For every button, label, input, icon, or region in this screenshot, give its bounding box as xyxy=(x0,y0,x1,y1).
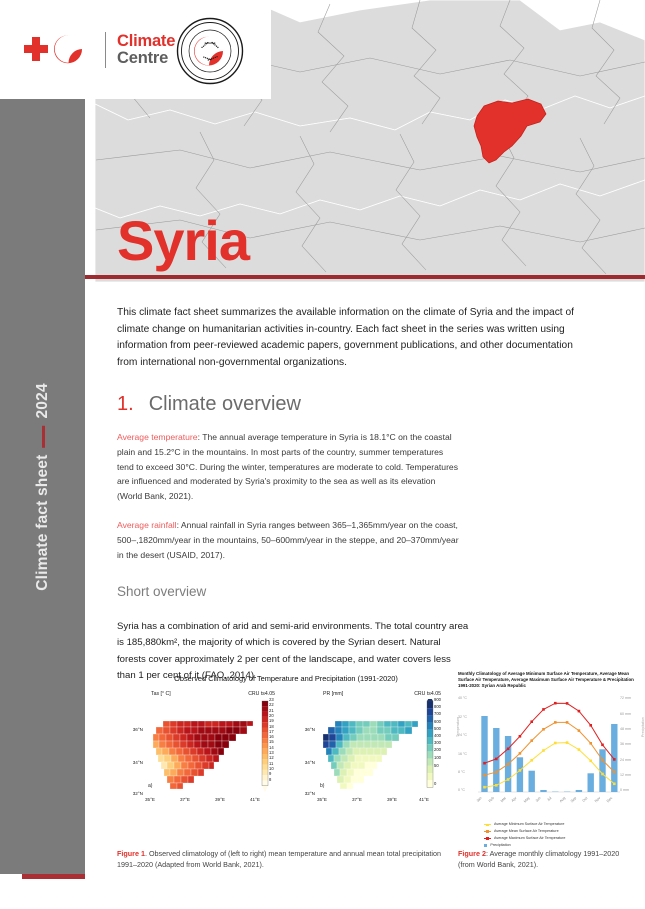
mean-temp-line xyxy=(485,723,615,776)
colorbar-tick: 23 xyxy=(269,697,274,702)
legend-label: Average Maximum Surface Air Temperature xyxy=(494,835,565,842)
sidebar-bottom-rule xyxy=(22,874,85,879)
colorbar-tick: 22 xyxy=(269,702,274,707)
paragraph-body: : The annual average temperature in Syri… xyxy=(117,432,458,501)
colorbar-tick: 500 xyxy=(434,726,441,731)
map-temperature: Tas [° C] CRU ts4.05 36°N 34°N 32°N 35°E… xyxy=(117,691,289,805)
colorbar-tick: 11 xyxy=(269,761,273,766)
chart-xtick: Sep xyxy=(570,796,577,803)
figure-2-caption-number: Figure 2 xyxy=(458,849,486,858)
chart-xtick: Dec xyxy=(606,796,613,803)
legend-item: Average Maximum Surface Air Temperature xyxy=(484,835,565,842)
chart-y2tick: 60 mm xyxy=(620,712,631,716)
logo-climate-text: Climate xyxy=(117,33,175,50)
paragraph-lead: Average temperature xyxy=(117,432,198,442)
legend-item: Average Mean Surface Air Temperature xyxy=(484,828,565,835)
chart-xtick: Oct xyxy=(582,796,589,803)
colorbar-tick: 900 xyxy=(434,697,441,702)
max-temp-line xyxy=(485,704,615,764)
legend-marker-precipitation xyxy=(484,844,487,847)
chart-xtick: Jul xyxy=(546,796,552,802)
sidebar-rule xyxy=(41,425,44,447)
colorbar-tick: 800 xyxy=(434,704,441,709)
colorbar-tick: 12 xyxy=(269,755,274,760)
figure-1-title: Observed Climatology of Temperature and … xyxy=(117,674,455,683)
figure-2: Monthly Climatology of Average Minimum S… xyxy=(458,671,645,811)
sidebar-label-main: Climate fact sheet xyxy=(34,454,52,590)
title-rule xyxy=(85,275,645,279)
colorbar-tick: 0 xyxy=(434,781,436,786)
legend-label: Average Mean Surface Air Temperature xyxy=(494,828,559,835)
map-precipitation: PR [mm] CRU ts4.05 36°N 34°N 32°N 35°E 3… xyxy=(289,691,455,805)
legend-marker-max-temp xyxy=(484,837,491,841)
colorbar-tick: 10 xyxy=(269,766,274,771)
colorbar-tick: 200 xyxy=(434,747,441,752)
chart-y2tick: 48 mm xyxy=(620,727,631,731)
colorbar-tick: 15 xyxy=(269,739,274,744)
paragraph-average-rainfall: Average rainfall: Annual rainfall in Syr… xyxy=(117,518,462,562)
logo-divider xyxy=(105,32,106,68)
figure-2-title: Monthly Climatology of Average Minimum S… xyxy=(458,671,642,688)
short-overview-heading: Short overview xyxy=(117,584,597,599)
chart-xtick: Jan xyxy=(476,796,483,803)
colorbar-tick: 8 xyxy=(269,777,271,782)
colorbar-tick: 13 xyxy=(269,750,274,755)
figure-1-caption-number: Figure 1 xyxy=(117,849,145,858)
chart-ylabel: Temperature xyxy=(456,717,460,737)
colorbar-tick: 19 xyxy=(269,718,274,723)
red-cross-red-crescent-emblem xyxy=(22,33,92,67)
chart-y2tick: 72 mm xyxy=(620,696,631,700)
chart-y2label: Precipitation xyxy=(641,718,645,738)
chart-xtick: Nov xyxy=(594,796,601,803)
colorbar-tick: 21 xyxy=(269,708,274,713)
chart-y2tick: 24 mm xyxy=(620,758,631,762)
paragraph-average-temperature: Average temperature: The annual average … xyxy=(117,430,462,504)
monthly-climatology-chart: 0 °C 8 °C 16 °C 24 °C 32 °C 40 °C Temper… xyxy=(458,693,645,811)
page-title: Syria xyxy=(117,214,249,267)
colorbar-tick: 14 xyxy=(269,745,274,750)
legend-label: Average Minimum Surface Air Temperature xyxy=(494,821,564,828)
section-number: 1. xyxy=(117,393,134,416)
red-crescent-seal: ●●●●●● ●●●●● ●●●●● ●●●●●● ●●●●● xyxy=(176,17,244,90)
temperature-lines xyxy=(485,704,615,788)
figure-1: Observed Climatology of Temperature and … xyxy=(117,674,455,805)
chart-y2tick: 12 mm xyxy=(620,773,631,777)
logo-centre-text: Centre xyxy=(117,50,175,67)
intro-paragraph: This climate fact sheet summarizes the a… xyxy=(117,305,589,371)
colorbar-tick: 16 xyxy=(269,734,274,739)
chart-xtick: Apr xyxy=(511,796,518,803)
figure-2-caption: Figure 2: Average monthly climatology 19… xyxy=(458,848,638,871)
colorbar-tick: 18 xyxy=(269,724,274,729)
colorbar-tick: 50 xyxy=(434,763,439,768)
left-sidebar: Climate fact sheet 2024 xyxy=(0,99,85,874)
colorbar-tick: 100 xyxy=(434,755,441,760)
colorbar-tick: 400 xyxy=(434,733,441,738)
sidebar-label-year: 2024 xyxy=(34,383,52,418)
chart-xtick: Mar xyxy=(499,796,506,803)
colorbar-tick: 9 xyxy=(269,771,271,776)
section-heading: 1. Climate overview xyxy=(117,393,597,416)
figure-1-caption: Figure 1. Observed climatology of (left … xyxy=(117,848,447,871)
chart-ytick: 8 °C xyxy=(458,770,465,774)
chart-y2tick: 36 mm xyxy=(620,742,631,746)
chart-xtick: Jun xyxy=(535,796,542,803)
legend-item: Average Minimum Surface Air Temperature xyxy=(484,821,565,828)
chart-xtick: May xyxy=(523,796,531,804)
chart-ytick: 40 °C xyxy=(458,696,467,700)
colorbar-tick: 17 xyxy=(269,729,274,734)
colorbar-tick: 600 xyxy=(434,719,441,724)
figure-1-maps: Tas [° C] CRU ts4.05 36°N 34°N 32°N 35°E… xyxy=(117,691,455,805)
chart-legend: Average Minimum Surface Air Temperature … xyxy=(484,821,565,848)
main-content: This climate fact sheet summarizes the a… xyxy=(117,305,597,684)
chart-plot-area xyxy=(478,696,620,796)
colorbar-tick: 20 xyxy=(269,713,274,718)
paragraph-lead: Average rainfall xyxy=(117,520,177,530)
section-title: Climate overview xyxy=(149,393,301,416)
colorbar-tick: 300 xyxy=(434,740,441,745)
sidebar-label: Climate fact sheet 2024 xyxy=(34,383,52,591)
chart-ytick: 16 °C xyxy=(458,752,467,756)
temperature-markers xyxy=(483,702,615,789)
chart-xtick: Aug xyxy=(558,796,565,803)
chart-y2tick: 0 mm xyxy=(620,788,629,792)
legend-marker-mean-temp xyxy=(484,830,491,834)
chart-ytick: 0 °C xyxy=(458,788,465,792)
title-block: Syria xyxy=(117,214,249,267)
figure-1-caption-text: . Observed climatology of (left to right… xyxy=(117,849,441,869)
legend-marker-min-temp xyxy=(484,823,491,827)
colorbar-tick: 700 xyxy=(434,711,441,716)
chart-xtick: Feb xyxy=(488,796,495,803)
logo-container: Climate Centre ●●●●●● ●●●●● ●●●●● ●●●●●●… xyxy=(0,0,271,99)
map-colorbar xyxy=(260,699,290,797)
